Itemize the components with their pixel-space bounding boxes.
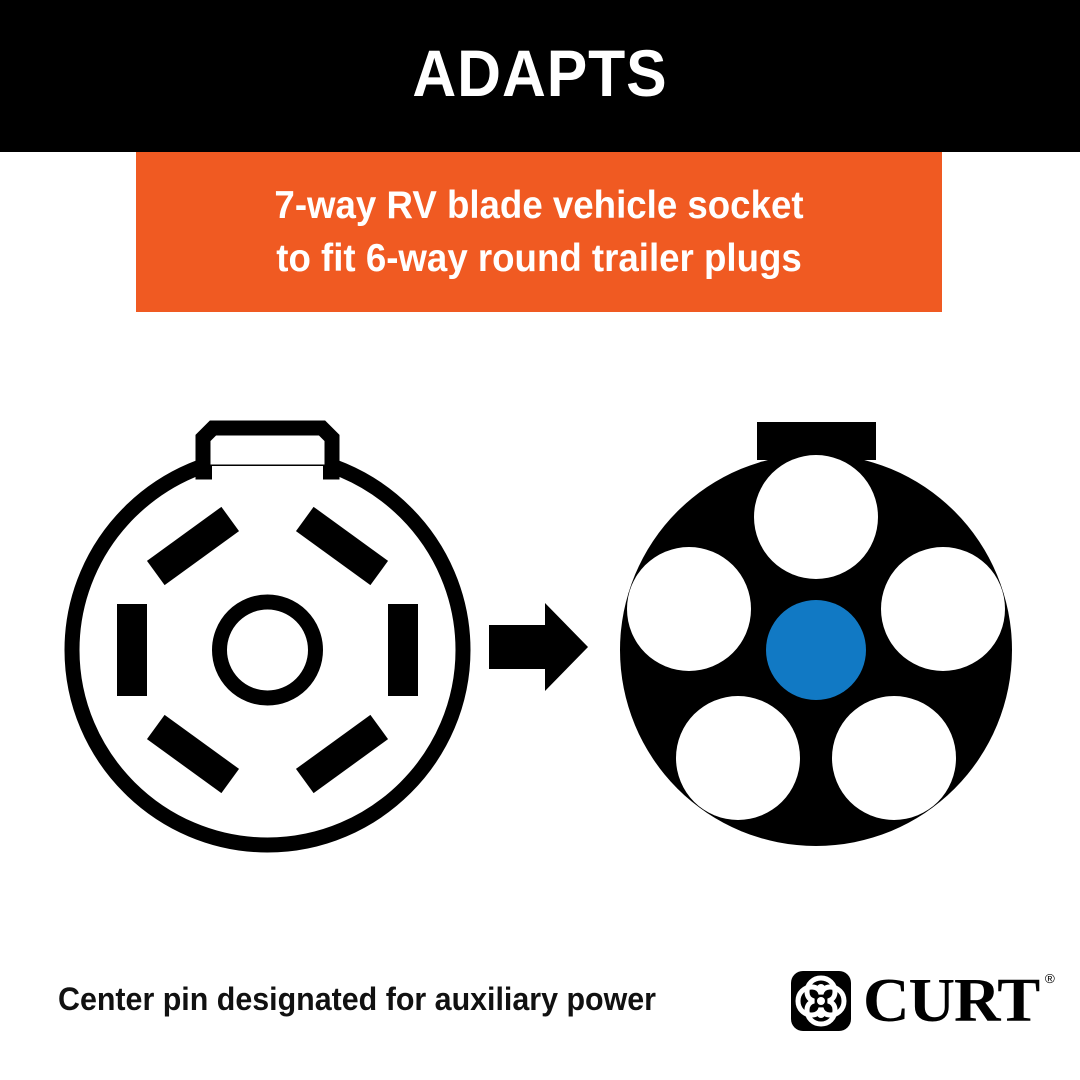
socket-blade-left bbox=[117, 604, 147, 696]
subtitle-banner: 7-way RV blade vehicle socket to fit 6-w… bbox=[136, 152, 942, 312]
curt-wordmark: CURT® bbox=[863, 970, 1039, 1032]
subtitle-line-2: to fit 6-way round trailer plugs bbox=[160, 232, 918, 285]
socket-center-pin bbox=[220, 602, 316, 698]
arrow-right-icon bbox=[489, 603, 588, 691]
logomark-center-dot bbox=[817, 997, 825, 1005]
plug-hole-lower-left bbox=[676, 696, 800, 820]
subtitle-text-block: 7-way RV blade vehicle socket to fit 6-w… bbox=[160, 179, 918, 285]
page-title: ADAPTS bbox=[43, 34, 1037, 112]
plug-center-pin-auxiliary bbox=[766, 600, 866, 700]
six-way-plug-icon bbox=[620, 422, 1012, 846]
registered-trademark-icon: ® bbox=[1044, 972, 1053, 985]
footer-note: Center pin designated for auxiliary powe… bbox=[58, 978, 656, 1020]
diagram-area bbox=[0, 400, 1080, 900]
adapts-to-arrow-icon bbox=[489, 603, 588, 691]
socket-key-notch bbox=[203, 428, 332, 472]
plug-hole-upper-left bbox=[627, 547, 751, 671]
infographic-page: ADAPTS 7-way RV blade vehicle socket to … bbox=[0, 0, 1080, 1080]
plug-hole-top bbox=[754, 455, 878, 579]
plug-hole-lower-right bbox=[832, 696, 956, 820]
plug-hole-upper-right bbox=[881, 547, 1005, 671]
subtitle-line-1: 7-way RV blade vehicle socket bbox=[160, 179, 918, 232]
logomark-dot-bottom bbox=[817, 1010, 825, 1018]
curt-logo: CURT® bbox=[791, 970, 1033, 1032]
footer: Center pin designated for auxiliary powe… bbox=[0, 960, 1080, 1050]
logomark-dot-top bbox=[817, 984, 825, 992]
header-bar: ADAPTS bbox=[0, 0, 1080, 152]
curt-wordmark-text: CURT bbox=[863, 967, 1039, 1035]
socket-notch-seam-mask bbox=[212, 466, 323, 484]
seven-way-socket-icon bbox=[72, 428, 463, 845]
socket-blade-right bbox=[388, 604, 418, 696]
adapter-diagram bbox=[0, 400, 1080, 900]
curt-logomark-icon bbox=[791, 971, 851, 1031]
